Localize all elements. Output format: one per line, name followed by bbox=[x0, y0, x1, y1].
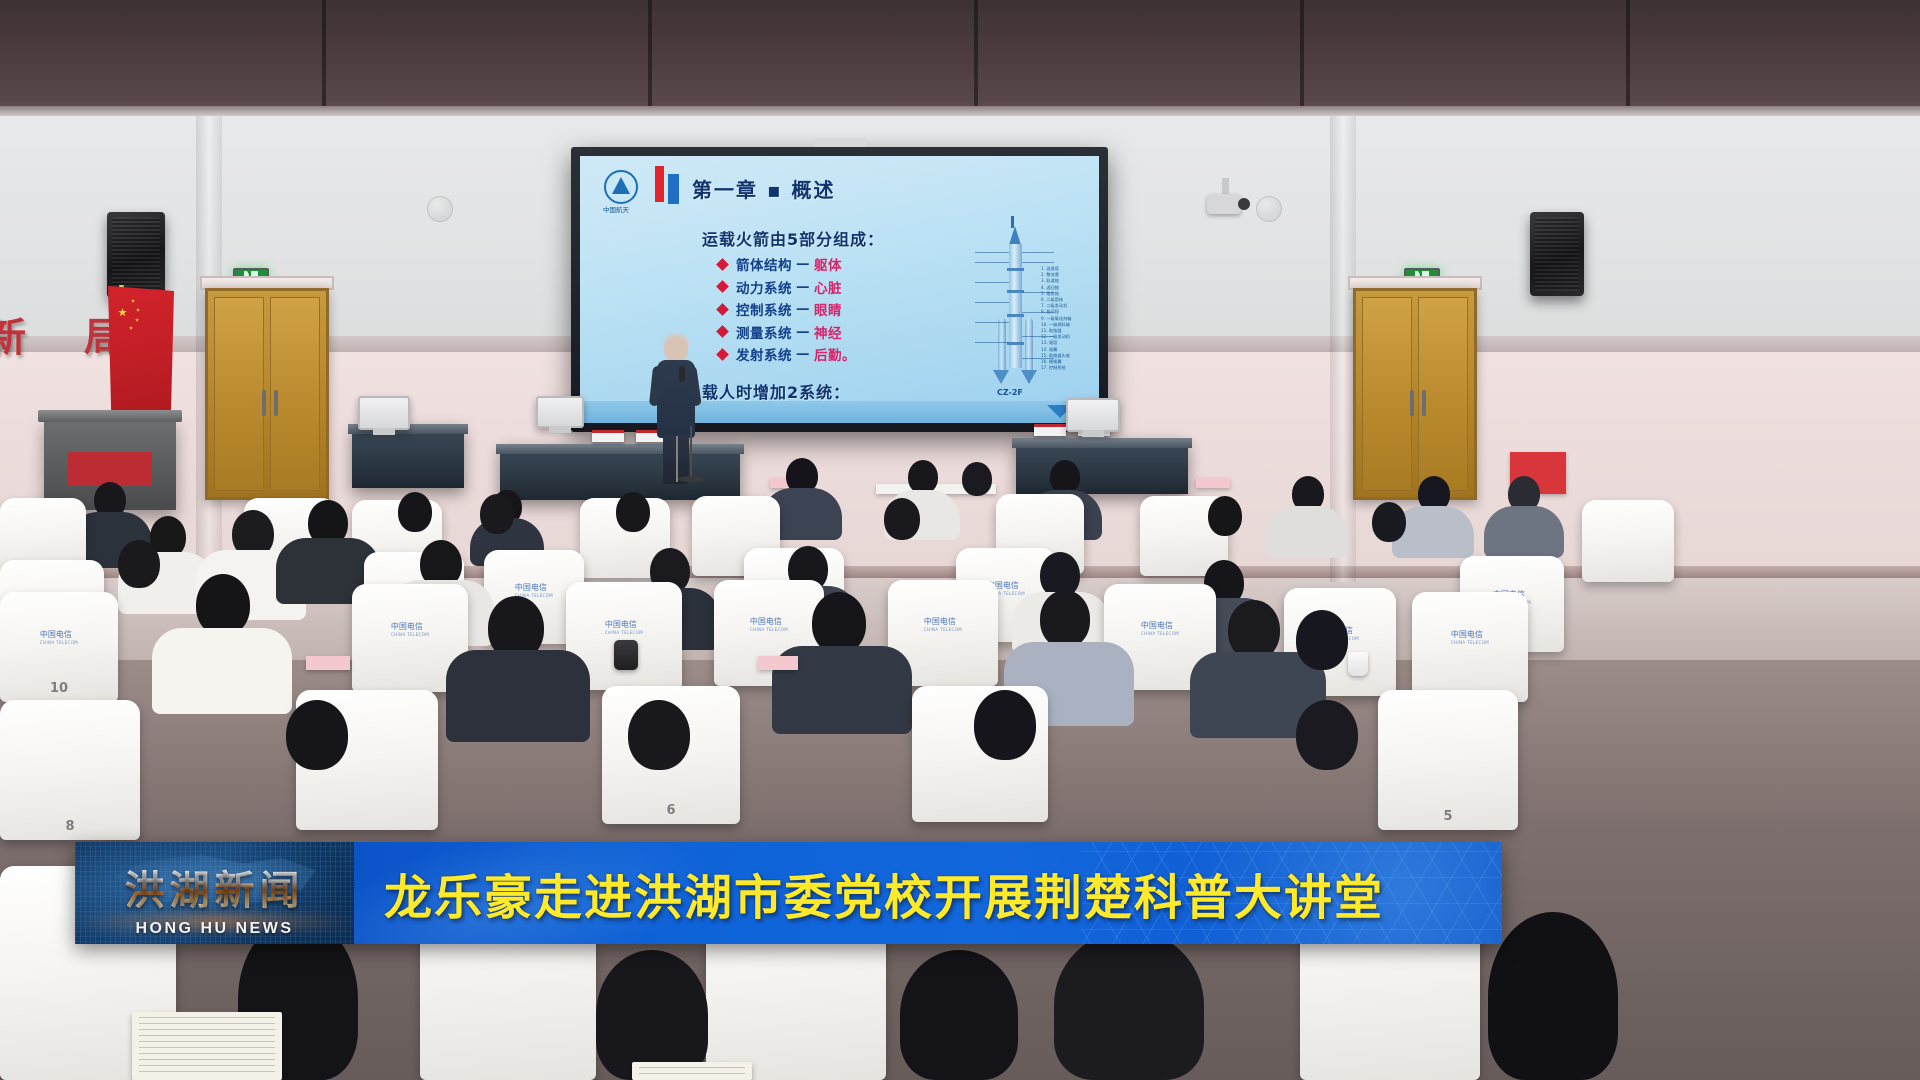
channel-name-cn: 洪湖新闻 bbox=[75, 858, 354, 916]
diamond-bullet-icon bbox=[716, 325, 729, 338]
notebook bbox=[632, 1062, 752, 1080]
slide-bullet: 动力系统 — 心脏 bbox=[718, 277, 952, 297]
stage-table-left bbox=[352, 424, 464, 488]
mic-stand-base bbox=[678, 476, 704, 482]
audience-shoulders bbox=[1266, 506, 1348, 558]
stage-monitor-right bbox=[1066, 398, 1120, 432]
stage-monitor-left bbox=[358, 396, 410, 430]
wall-speaker-right bbox=[1530, 212, 1584, 296]
audience-head bbox=[908, 460, 938, 494]
slide-section2-heading: 载人时增加2系统： bbox=[702, 379, 952, 403]
stage-monitor-center bbox=[536, 396, 584, 428]
pink-paper bbox=[306, 656, 350, 670]
diamond-bullet-icon bbox=[716, 280, 729, 293]
news-headline: 龙乐豪走进洪湖市委党校开展荆楚科普大讲堂 bbox=[354, 858, 1384, 928]
chair-logo: 中国电信CHINA TELECOM bbox=[1451, 629, 1489, 645]
chair-logo: 中国电信CHINA TELECOM bbox=[40, 629, 78, 645]
diamond-bullet-icon bbox=[716, 348, 729, 361]
name-card bbox=[592, 430, 624, 442]
pink-paper bbox=[758, 656, 798, 670]
chair-number: 5 bbox=[1443, 809, 1452, 824]
chair[interactable] bbox=[1582, 500, 1674, 582]
channel-logo: 洪湖新闻 HONG HU NEWS bbox=[75, 842, 354, 944]
chair-logo: 中国电信CHINA TELECOM bbox=[391, 621, 429, 637]
diamond-bullet-icon bbox=[716, 303, 729, 316]
security-camera-icon bbox=[1207, 194, 1241, 214]
slide-bullet: 控制系统 — 眼睛 bbox=[718, 299, 952, 319]
audience-head bbox=[1296, 610, 1348, 670]
casc-logo-text: 中国航天 bbox=[603, 204, 629, 214]
chair-number: 8 bbox=[65, 819, 74, 834]
audience-shoulders bbox=[152, 628, 292, 714]
wall-vent bbox=[427, 196, 453, 222]
rocket-diagram: CZ-2F 1. 逃逸塔 2. 整流罩 3. 轨道舱 4. 返回舱 5. 推进舱… bbox=[953, 218, 1083, 408]
door-right[interactable] bbox=[1353, 288, 1477, 500]
handheld-microphone bbox=[679, 366, 685, 382]
slide-title: 第一章 ▪ 概述 bbox=[692, 174, 835, 203]
casc-logo-icon: 中国航天 bbox=[604, 170, 644, 210]
door-left[interactable] bbox=[205, 288, 329, 500]
audience-head bbox=[884, 498, 920, 540]
chair-logo: 中国电信CHINA TELECOM bbox=[1141, 620, 1179, 636]
stage-table-center bbox=[500, 444, 740, 500]
rocket-figure-legend: 1. 逃逸塔 2. 整流罩 3. 轨道舱 4. 返回舱 5. 推进舱 6. 二级… bbox=[1041, 266, 1087, 371]
audience-head bbox=[962, 462, 992, 496]
rocket-figure-label: CZ-2F bbox=[997, 388, 1023, 397]
headline-bar: 龙乐豪走进洪湖市委党校开展荆楚科普大讲堂 bbox=[354, 842, 1502, 944]
mic-stand bbox=[690, 426, 692, 478]
audience-head bbox=[1040, 590, 1090, 648]
audience-head bbox=[1208, 496, 1242, 536]
camera-mount bbox=[1222, 178, 1229, 194]
audience-head bbox=[1296, 700, 1358, 770]
chair-logo: 中国电信CHINA TELECOM bbox=[605, 619, 643, 635]
stage-paper-pink bbox=[1196, 478, 1230, 488]
slide-body: 运载火箭由5部分组成： 箭体结构 — 躯体 动力系统 — 心脏 控制系统 — 眼… bbox=[702, 226, 952, 423]
chair-number: 10 bbox=[50, 681, 68, 696]
slide-bullet: 测量系统 — 神经 bbox=[718, 322, 952, 342]
audience-head bbox=[398, 492, 432, 532]
paper-cup bbox=[1348, 652, 1368, 676]
audience-head-foreground bbox=[596, 950, 708, 1080]
audience-head bbox=[974, 690, 1036, 760]
ceiling-lip bbox=[0, 106, 1920, 116]
screen-mount bbox=[814, 138, 866, 147]
slide-accent-bar-blue bbox=[668, 174, 679, 204]
slide-section1-heading: 运载火箭由5部分组成： bbox=[702, 226, 952, 250]
audience-head bbox=[480, 494, 514, 534]
chair[interactable]: 中国电信CHINA TELECOM 10 bbox=[0, 592, 118, 702]
broadcast-screenshot: 新 局 bbox=[0, 0, 1920, 1080]
wall-speaker-left bbox=[107, 212, 165, 298]
audience-head bbox=[1228, 600, 1280, 660]
audience-head-foreground bbox=[900, 950, 1018, 1080]
audience-head bbox=[616, 492, 650, 532]
chair[interactable]: 8 bbox=[0, 700, 140, 840]
audience-head bbox=[812, 592, 866, 654]
presenter-head bbox=[664, 336, 688, 362]
audience-head-foreground bbox=[1054, 930, 1204, 1080]
diamond-bullet-icon bbox=[716, 258, 729, 271]
audience-head bbox=[628, 700, 690, 770]
water-bottle bbox=[614, 640, 638, 670]
wall-vent bbox=[1256, 196, 1282, 222]
slide-bullet: 箭体结构 — 躯体 bbox=[718, 254, 952, 274]
audience-head-foreground bbox=[1488, 912, 1618, 1080]
ceiling-beam bbox=[0, 0, 1920, 106]
audience-shoulders bbox=[446, 650, 590, 742]
slide-bullet: 发射系统 — 后勤。 bbox=[718, 344, 952, 364]
channel-name-en: HONG HU NEWS bbox=[75, 920, 354, 938]
chair-logo: 中国电信CHINA TELECOM bbox=[750, 616, 788, 632]
chair[interactable]: 5 bbox=[1378, 690, 1518, 830]
audience-shoulders bbox=[1484, 506, 1564, 558]
audience-head bbox=[118, 540, 160, 588]
audience-head bbox=[1372, 502, 1406, 542]
audience-head bbox=[286, 700, 348, 770]
audience-head bbox=[196, 574, 250, 636]
presenter-leg-gap bbox=[676, 436, 678, 482]
stage-table-right bbox=[1016, 438, 1188, 494]
audience-head bbox=[1050, 460, 1080, 494]
chair[interactable]: 中国电信CHINA TELECOM bbox=[1412, 592, 1528, 702]
chair-logo: 中国电信CHINA TELECOM bbox=[924, 616, 962, 632]
name-card bbox=[1034, 424, 1066, 436]
news-lower-third-banner: 洪湖新闻 HONG HU NEWS 龙乐豪走进洪湖市委党校开展荆楚科普大讲堂 bbox=[75, 842, 1502, 944]
notebook bbox=[132, 1012, 282, 1080]
chair-number: 6 bbox=[666, 803, 675, 818]
slide-accent-bar-red bbox=[655, 166, 664, 202]
